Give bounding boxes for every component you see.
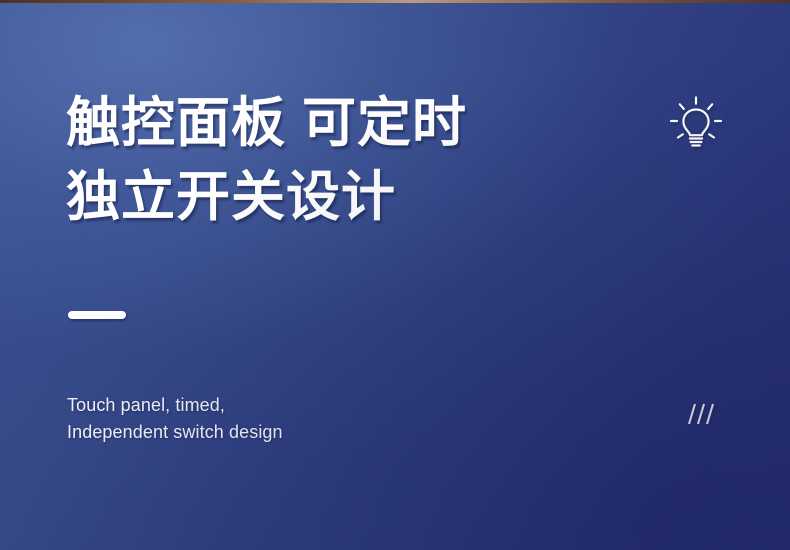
headline-line-1: 触控面板 可定时 [66, 86, 626, 160]
subtitle: Touch panel, timed, Independent switch d… [67, 392, 487, 446]
lightbulb-icon [668, 96, 724, 156]
background-vignette [0, 0, 790, 550]
headline: 触控面板 可定时 独立开关设计 [66, 86, 626, 234]
product-feature-banner: 触控面板 可定时 独立开关设计 Touch panel, timed, Inde… [0, 0, 790, 550]
headline-line-2: 独立开关设计 [66, 160, 626, 234]
divider-dash [68, 311, 126, 319]
triple-slash-icon [682, 402, 716, 426]
subtitle-line-1: Touch panel, timed, [67, 392, 487, 419]
subtitle-line-2: Independent switch design [67, 419, 487, 446]
top-accent-strip [0, 0, 790, 3]
